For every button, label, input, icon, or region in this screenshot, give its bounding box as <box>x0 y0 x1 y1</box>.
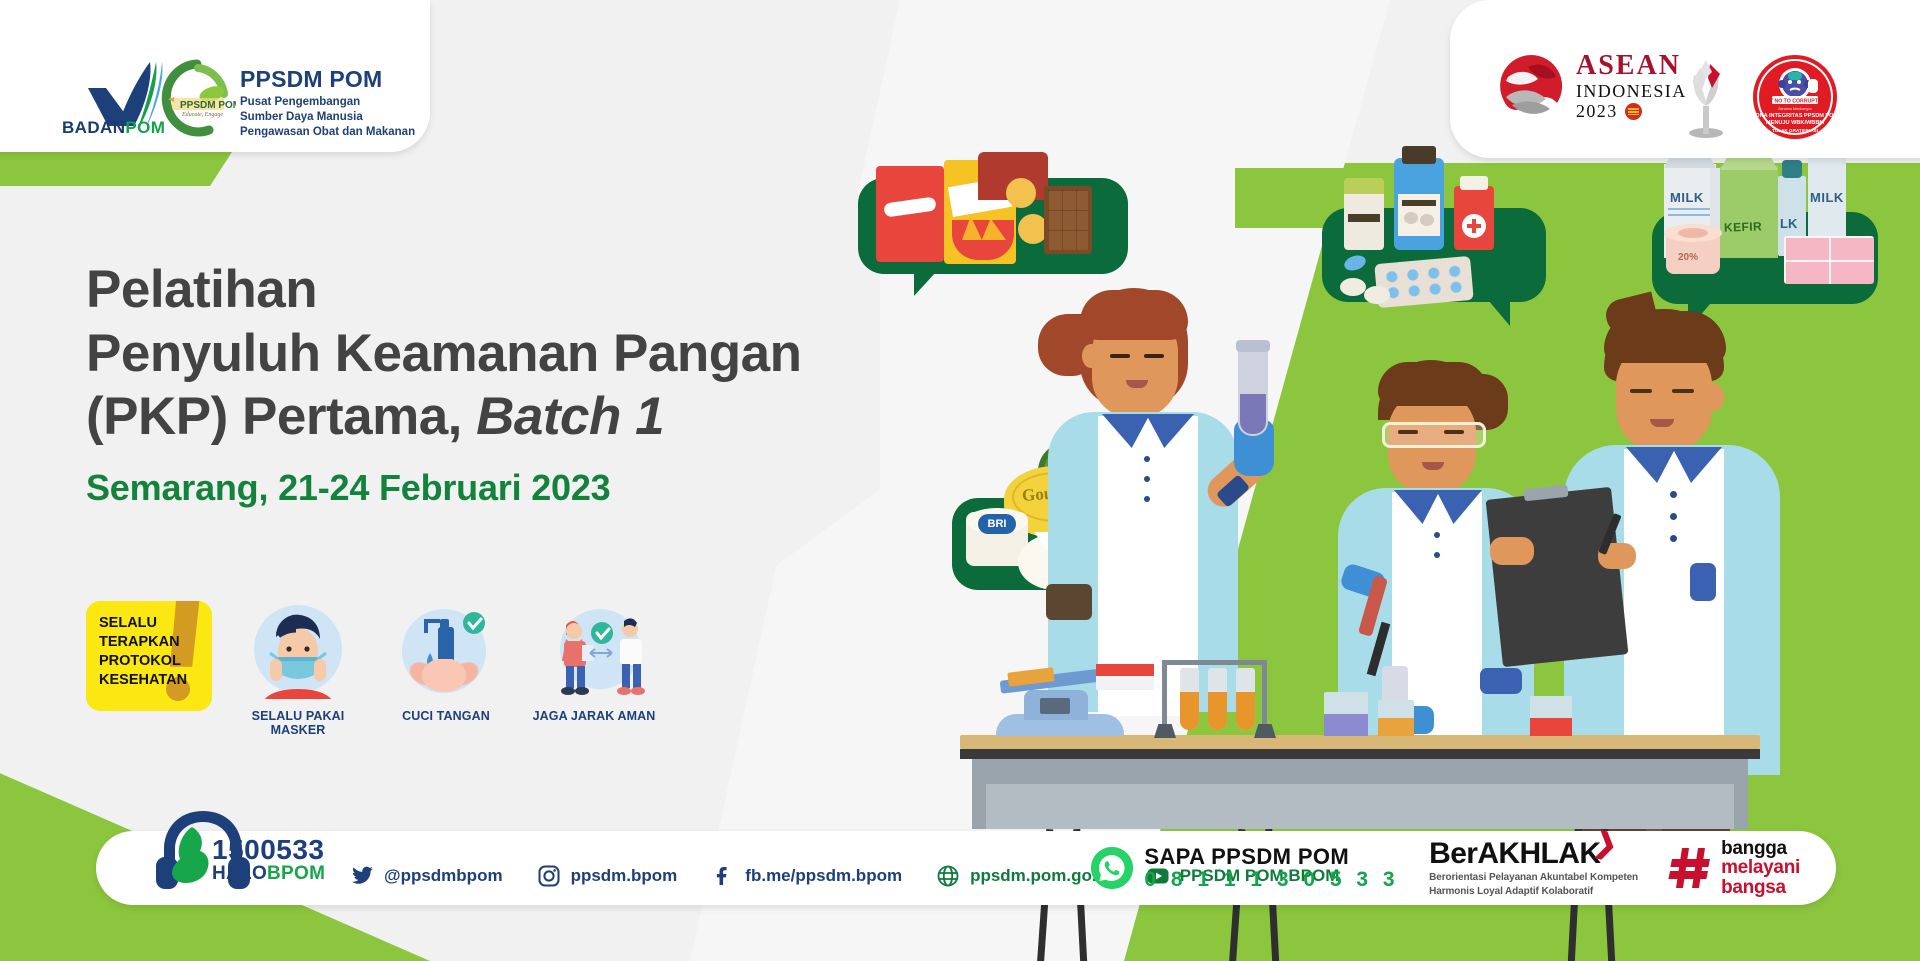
dairy-bubble: MILK KEFIR LK MILK 20% <box>1652 212 1878 304</box>
banner-canvas: MILK KEFIR LK MILK 20% <box>0 0 1920 961</box>
medicine-bubble <box>1322 208 1546 302</box>
svg-text:PPSDM POM: PPSDM POM <box>180 100 236 111</box>
ppsdm-pom-text-block: PPSDM POM Pusat Pengembangan Sumber Daya… <box>240 68 415 141</box>
svg-text:SAY NO TO CORRUPTION: SAY NO TO CORRUPTION <box>1763 99 1827 105</box>
lab-table-edge <box>960 749 1760 759</box>
svg-text:Educate, Engage: Educate, Engage <box>181 112 223 118</box>
milk-bottle-label: MILK <box>1810 190 1844 205</box>
berakhlak-logo: BerAKHLAK❯ Berorientasi Pelayanan Akunta… <box>1429 839 1638 897</box>
protocol-item-wash: CUCI TANGAN <box>384 601 508 723</box>
title-line-2: Penyuluh Keamanan Pangan <box>86 322 926 386</box>
halo-word-dark: HALO <box>212 863 267 884</box>
protocol-card-line3: PROTOKOL <box>99 652 202 671</box>
asean-name: ASEAN <box>1576 52 1687 80</box>
svg-text:MENUJU WBK/WBBM: MENUJU WBK/WBBM <box>1766 120 1824 126</box>
test-tube-rack-icon <box>1158 660 1276 738</box>
svg-text:Bersama Membangun: Bersama Membangun <box>1778 107 1811 111</box>
berakhlak-sub1: Berorientasi Pelayanan Akuntabel Kompete… <box>1429 873 1638 883</box>
clipboard-icon <box>1486 487 1629 667</box>
asean-country: INDONESIA <box>1576 82 1687 100</box>
social-twitter[interactable]: @ppsdmbpom <box>350 864 503 888</box>
protocol-callout-card: SELALU TERAPKAN PROTOKOL KESEHATAN <box>86 601 212 711</box>
protocol-caption-wash: CUCI TANGAN <box>384 709 508 723</box>
halo-word-green: BPOM <box>267 863 325 884</box>
protocol-caption-mask: SELALU PAKAI MASKER <box>236 709 360 737</box>
specimen-tray-icon <box>1096 664 1154 690</box>
berakhlak-sub2: Harmonis Loyal Adaptif Kolaboratif <box>1429 887 1638 897</box>
title-line-3-plain: (PKP) Pertama, <box>86 387 476 446</box>
hand-washing-icon <box>396 601 496 701</box>
berakhlak-ber: Ber <box>1429 837 1477 870</box>
person-wearing-mask-icon <box>248 601 348 701</box>
halo-bpom-number: 1500533 HALOBPOM <box>212 836 325 883</box>
badan-pom-word-dark: BADAN <box>62 118 125 137</box>
bangga-line1: bangga <box>1721 839 1800 858</box>
berakhlak-swoosh-icon: ❯ <box>1591 828 1619 860</box>
svg-text:ZONA INTEGRITAS PPSDM POM: ZONA INTEGRITAS PPSDM POM <box>1752 113 1838 119</box>
beaker-purple-icon <box>1324 692 1368 736</box>
twitter-icon <box>350 864 374 888</box>
protocol-card-line2: TERAPKAN <box>99 633 202 652</box>
health-protocol-section: SELALU TERAPKAN PROTOKOL KESEHATAN <box>86 601 656 737</box>
svg-text:TOLAK GRATIFIKASI: TOLAK GRATIFIKASI <box>1772 128 1818 133</box>
lab-table-panel <box>986 784 1734 829</box>
sapa-title: SAPA PPSDM POM <box>1144 845 1399 868</box>
hashtag-icon <box>1668 846 1712 890</box>
bangga-melayani-bangsa-logo: bangga melayani bangsa <box>1668 839 1800 897</box>
protocol-caption-distance: JAGA JARAK AMAN <box>532 709 656 723</box>
facebook-handle: fb.me/ppsdm.bpom <box>745 866 902 886</box>
protocol-item-mask: SELALU PAKAI MASKER <box>236 601 360 737</box>
social-instagram[interactable]: ppsdm.bpom <box>537 864 678 888</box>
halo-number: 1500533 <box>212 836 325 864</box>
cream-percent-label: 20% <box>1678 252 1698 263</box>
beaker-amber-icon <box>1378 700 1414 736</box>
whatsapp-icon <box>1091 847 1133 889</box>
zona-integritas-badge: SAY NO TO CORRUPTION Bersama Membangun Z… <box>1752 54 1838 140</box>
facebook-icon <box>711 864 735 888</box>
ppsdm-sub-line2: Sumber Daya Manusia <box>240 110 415 125</box>
badan-pom-label: BADANPOM <box>62 118 165 138</box>
bangga-line2: melayani <box>1721 858 1800 877</box>
sapa-number: 0 8 1 1 1 3 0 5 3 3 <box>1144 868 1399 891</box>
social-facebook[interactable]: fb.me/ppsdm.bpom <box>711 864 902 888</box>
sapa-whatsapp-block[interactable]: SAPA PPSDM POM 0 8 1 1 1 3 0 5 3 3 <box>1091 845 1399 891</box>
beaker-red-icon <box>1530 696 1572 736</box>
page-title: Pelatihan Penyuluh Keamanan Pangan (PKP)… <box>86 258 926 509</box>
title-line-1: Pelatihan <box>86 258 926 322</box>
title-line-3-italic: Batch 1 <box>476 387 664 446</box>
social-website[interactable]: ppsdm.pom.go.id <box>936 864 1112 888</box>
asean-globe-icon <box>1498 53 1564 119</box>
bri-label: BRI <box>988 518 1007 530</box>
tugu-monument-icon <box>1680 58 1732 138</box>
instagram-icon <box>537 864 561 888</box>
kefir-label: KEFIR <box>1724 219 1762 234</box>
social-distancing-icon <box>544 601 644 701</box>
lk-label: LK <box>1780 216 1797 231</box>
asean-year: 2023 <box>1576 102 1618 120</box>
twitter-handle: @ppsdmbpom <box>384 866 503 886</box>
partner-badges: SAPA PPSDM POM 0 8 1 1 1 3 0 5 3 3 BerAK… <box>1091 831 1824 905</box>
instagram-handle: ppsdm.bpom <box>571 866 678 886</box>
berakhlak-akhlak: AKHLAK <box>1477 837 1600 870</box>
protocol-card-line4: KESEHATAN <box>99 671 202 690</box>
asean-emblem-icon <box>1625 103 1642 120</box>
event-date-location: Semarang, 21-24 Februari 2023 <box>86 467 926 509</box>
lab-table-surface <box>960 735 1760 749</box>
bangga-line3: bangsa <box>1721 878 1800 897</box>
protocol-card-line1: SELALU <box>99 614 202 633</box>
milk-label: MILK <box>1670 190 1704 205</box>
protocol-item-distance: JAGA JARAK AMAN <box>532 601 656 723</box>
ppsdm-sub-line1: Pusat Pengembangan <box>240 95 415 110</box>
ppsdm-title: PPSDM POM <box>240 68 415 91</box>
go-green-circle-logo: PPSDM POM Educate, Engage <box>158 58 236 138</box>
globe-icon <box>936 864 960 888</box>
title-line-3: (PKP) Pertama, Batch 1 <box>86 385 926 449</box>
ppsdm-sub-line3: Pengawasan Obat dan Makanan <box>240 125 415 140</box>
asean-indonesia-2023-logo: ASEAN INDONESIA 2023 <box>1498 52 1687 120</box>
